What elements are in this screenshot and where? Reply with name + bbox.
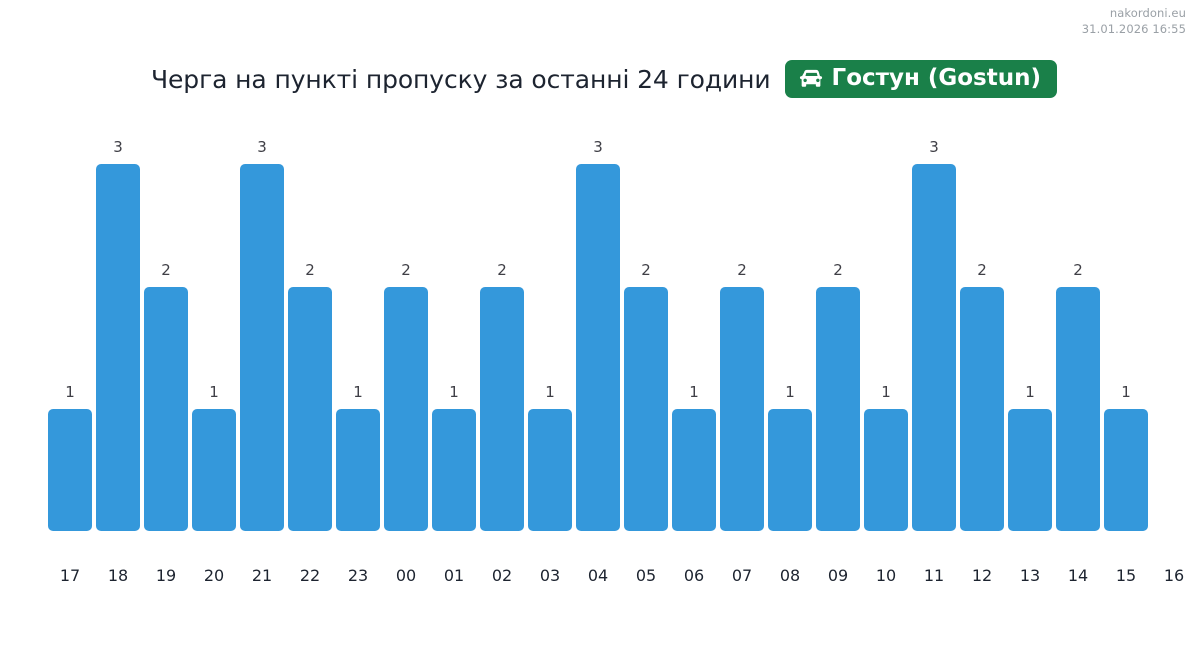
bar-slot[interactable]: 2 — [1056, 140, 1100, 531]
bar-slot[interactable]: 2 — [960, 140, 1004, 531]
bar-slot[interactable]: 1 — [672, 140, 716, 531]
bar-slot[interactable]: 2 — [144, 140, 188, 531]
bar-value-label: 2 — [720, 263, 764, 278]
bar-series: 13213212121321212132121 — [48, 140, 1148, 531]
bar-value-label: 2 — [624, 263, 668, 278]
bar-slot[interactable]: 1 — [1104, 140, 1148, 531]
bar[interactable] — [480, 287, 524, 531]
bar-value-label: 2 — [288, 263, 332, 278]
x-axis-tick-label: 22 — [300, 568, 320, 584]
x-axis-tick-label: 07 — [732, 568, 752, 584]
bar[interactable] — [864, 409, 908, 531]
x-axis-tick-label: 10 — [876, 568, 896, 584]
station-badge-label: Гостун (Gostun) — [832, 67, 1041, 90]
bar[interactable] — [816, 287, 860, 531]
x-axis-tick-label: 11 — [924, 568, 944, 584]
bar-slot[interactable]: 1 — [768, 140, 812, 531]
bar[interactable] — [1104, 409, 1148, 531]
station-badge[interactable]: Гостун (Gostun) — [785, 60, 1057, 98]
bar-slot[interactable]: 1 — [1008, 140, 1052, 531]
watermark-timestamp: 31.01.2026 16:55 — [1082, 22, 1186, 38]
x-axis-tick-label: 20 — [204, 568, 224, 584]
bar-value-label: 1 — [192, 385, 236, 400]
bar-value-label: 1 — [1104, 385, 1148, 400]
bar[interactable] — [192, 409, 236, 531]
bar-value-label: 1 — [48, 385, 92, 400]
watermark-site: nakordoni.eu — [1082, 6, 1186, 22]
bar-value-label: 1 — [528, 385, 572, 400]
bar[interactable] — [912, 164, 956, 531]
bar-slot[interactable]: 3 — [240, 140, 284, 531]
bar[interactable] — [240, 164, 284, 531]
bar-value-label: 3 — [96, 140, 140, 155]
x-axis-tick-label: 17 — [60, 568, 80, 584]
bar[interactable] — [576, 164, 620, 531]
page-title: Черга на пункті пропуску за останні 24 г… — [151, 65, 771, 94]
bar[interactable] — [336, 409, 380, 531]
bar-slot[interactable]: 1 — [192, 140, 236, 531]
bar-slot[interactable]: 3 — [912, 140, 956, 531]
bar-slot[interactable]: 1 — [48, 140, 92, 531]
bar-slot[interactable]: 2 — [624, 140, 668, 531]
bar[interactable] — [768, 409, 812, 531]
bar[interactable] — [624, 287, 668, 531]
x-axis-tick-label: 02 — [492, 568, 512, 584]
x-axis-tick-label: 05 — [636, 568, 656, 584]
bar[interactable] — [672, 409, 716, 531]
bar-slot[interactable]: 1 — [864, 140, 908, 531]
x-axis-tick-label: 03 — [540, 568, 560, 584]
bar-value-label: 1 — [768, 385, 812, 400]
bar-slot[interactable]: 1 — [336, 140, 380, 531]
x-axis-tick-label: 14 — [1068, 568, 1088, 584]
bar-slot[interactable]: 2 — [480, 140, 524, 531]
chart-plot-area: 13213212121321212132121 — [48, 140, 1148, 531]
x-axis-tick-label: 16 — [1164, 568, 1184, 584]
bar[interactable] — [384, 287, 428, 531]
x-axis-tick-label: 06 — [684, 568, 704, 584]
x-axis-tick-label: 18 — [108, 568, 128, 584]
bar-slot[interactable]: 1 — [528, 140, 572, 531]
bar-value-label: 2 — [384, 263, 428, 278]
bar-value-label: 2 — [816, 263, 860, 278]
bar-value-label: 3 — [240, 140, 284, 155]
bar-slot[interactable]: 2 — [288, 140, 332, 531]
x-axis-tick-label: 21 — [252, 568, 272, 584]
x-axis: 1718192021222300010203040506070809101112… — [48, 568, 1148, 592]
bar-slot[interactable]: 1 — [432, 140, 476, 531]
watermark: nakordoni.eu 31.01.2026 16:55 — [1082, 6, 1186, 37]
bar-slot[interactable]: 2 — [816, 140, 860, 531]
bar[interactable] — [720, 287, 764, 531]
bar-value-label: 3 — [912, 140, 956, 155]
x-axis-tick-label: 01 — [444, 568, 464, 584]
x-axis-tick-label: 15 — [1116, 568, 1136, 584]
bar[interactable] — [960, 287, 1004, 531]
bar[interactable] — [48, 409, 92, 531]
bar-value-label: 3 — [576, 140, 620, 155]
bar-value-label: 2 — [1056, 263, 1100, 278]
bar-slot[interactable]: 2 — [384, 140, 428, 531]
bar-value-label: 2 — [960, 263, 1004, 278]
x-axis-tick-label: 04 — [588, 568, 608, 584]
x-axis-tick-label: 23 — [348, 568, 368, 584]
bar[interactable] — [288, 287, 332, 531]
bar-value-label: 1 — [432, 385, 476, 400]
bar-value-label: 2 — [480, 263, 524, 278]
bar-value-label: 1 — [672, 385, 716, 400]
title-row: Черга на пункті пропуску за останні 24 г… — [0, 54, 1200, 104]
x-axis-tick-label: 09 — [828, 568, 848, 584]
bar[interactable] — [528, 409, 572, 531]
bar[interactable] — [96, 164, 140, 531]
bar[interactable] — [432, 409, 476, 531]
bar[interactable] — [144, 287, 188, 531]
bar[interactable] — [1056, 287, 1100, 531]
bar-value-label: 2 — [144, 263, 188, 278]
x-axis-tick-label: 12 — [972, 568, 992, 584]
bar-value-label: 1 — [336, 385, 380, 400]
bar-value-label: 1 — [1008, 385, 1052, 400]
x-axis-tick-label: 08 — [780, 568, 800, 584]
x-axis-tick-label: 19 — [156, 568, 176, 584]
car-icon — [798, 68, 825, 90]
bar-slot[interactable]: 2 — [720, 140, 764, 531]
bar-value-label: 1 — [864, 385, 908, 400]
x-axis-tick-label: 13 — [1020, 568, 1040, 584]
x-axis-tick-label: 00 — [396, 568, 416, 584]
bar[interactable] — [1008, 409, 1052, 531]
bar-slot[interactable]: 3 — [96, 140, 140, 531]
bar-slot[interactable]: 3 — [576, 140, 620, 531]
